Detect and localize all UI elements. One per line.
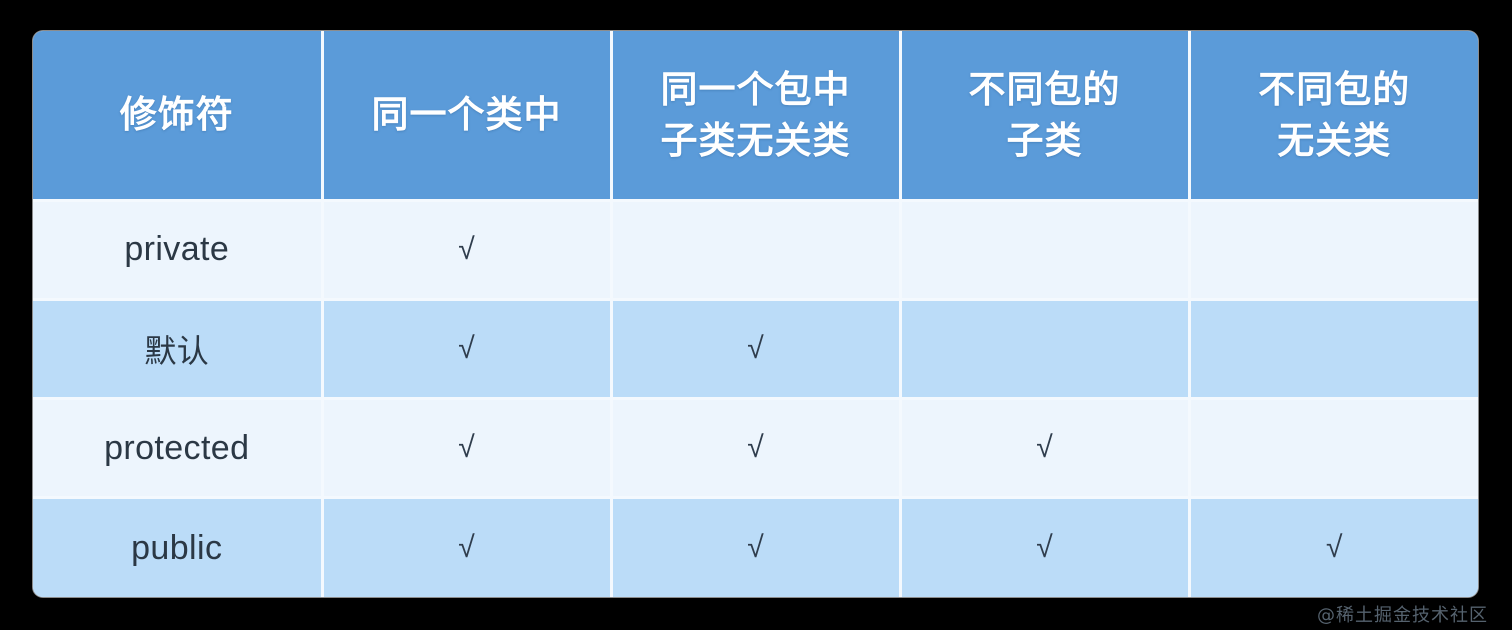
access-cell-same-package: √ [611, 498, 900, 597]
access-modifier-table-card: 修饰符 同一个类中 同一个包中 子类无关类 不同包的 子类 不同包的 [33, 31, 1478, 597]
access-cell-same-class: √ [322, 299, 611, 398]
modifier-cell: 默认 [33, 299, 322, 398]
table-header: 修饰符 同一个类中 同一个包中 子类无关类 不同包的 子类 不同包的 [33, 31, 1478, 200]
check-icon: √ [747, 433, 763, 463]
column-header-other-package-unrelated-line-1: 不同包的 [1197, 64, 1473, 115]
table-row: public √ √ √ √ [33, 498, 1478, 597]
check-icon: √ [458, 334, 474, 364]
modifier-cell: protected [33, 399, 322, 498]
table-row: private √ [33, 200, 1478, 299]
access-cell-other-package-unrelated [1189, 200, 1478, 299]
access-cell-same-class: √ [322, 200, 611, 299]
check-icon: √ [747, 334, 763, 364]
check-icon: √ [458, 235, 474, 265]
access-cell-other-package-subclass: √ [900, 399, 1189, 498]
access-modifier-table: 修饰符 同一个类中 同一个包中 子类无关类 不同包的 子类 不同包的 [33, 31, 1478, 597]
access-cell-other-package-subclass [900, 299, 1189, 398]
watermark: @稀土掘金技术社区 [1317, 601, 1488, 627]
access-cell-other-package-subclass: √ [900, 498, 1189, 597]
column-header-modifier: 修饰符 [33, 31, 322, 200]
modifier-cell: public [33, 498, 322, 597]
modifier-name: 默认 [144, 333, 209, 369]
table-row: 默认 √ √ [33, 299, 1478, 398]
column-header-same-class-line-1: 同一个类中 [330, 89, 604, 140]
access-cell-other-package-subclass [900, 200, 1189, 299]
table-body: private √ [33, 200, 1478, 597]
column-header-other-package-subclass-line-2: 子类 [908, 115, 1182, 166]
modifier-name: protected [104, 429, 249, 467]
table-row: protected √ √ √ [33, 399, 1478, 498]
check-icon: √ [747, 533, 763, 563]
column-header-modifier-line-1: 修饰符 [39, 89, 315, 140]
access-cell-other-package-unrelated [1189, 399, 1478, 498]
column-header-same-class: 同一个类中 [322, 31, 611, 200]
access-cell-same-package [611, 200, 900, 299]
column-header-other-package-subclass-line-1: 不同包的 [908, 64, 1182, 115]
modifier-cell: private [33, 200, 322, 299]
column-header-same-package: 同一个包中 子类无关类 [611, 31, 900, 200]
check-icon: √ [1036, 533, 1052, 563]
modifier-name: public [131, 529, 222, 567]
access-cell-other-package-unrelated: √ [1189, 498, 1478, 597]
access-cell-same-class: √ [322, 498, 611, 597]
access-cell-same-class: √ [322, 399, 611, 498]
check-icon: √ [1036, 433, 1052, 463]
check-icon: √ [458, 433, 474, 463]
column-header-same-package-line-1: 同一个包中 [619, 64, 893, 115]
modifier-name: private [124, 230, 229, 268]
access-cell-same-package: √ [611, 299, 900, 398]
column-header-other-package-unrelated: 不同包的 无关类 [1189, 31, 1478, 200]
access-cell-same-package: √ [611, 399, 900, 498]
check-icon: √ [1326, 533, 1342, 563]
column-header-other-package-unrelated-line-2: 无关类 [1197, 115, 1473, 166]
page-background: 修饰符 同一个类中 同一个包中 子类无关类 不同包的 子类 不同包的 [0, 0, 1512, 630]
access-cell-other-package-unrelated [1189, 299, 1478, 398]
column-header-same-package-line-2: 子类无关类 [619, 115, 893, 166]
check-icon: √ [458, 533, 474, 563]
column-header-other-package-subclass: 不同包的 子类 [900, 31, 1189, 200]
table-header-row: 修饰符 同一个类中 同一个包中 子类无关类 不同包的 子类 不同包的 [33, 31, 1478, 200]
